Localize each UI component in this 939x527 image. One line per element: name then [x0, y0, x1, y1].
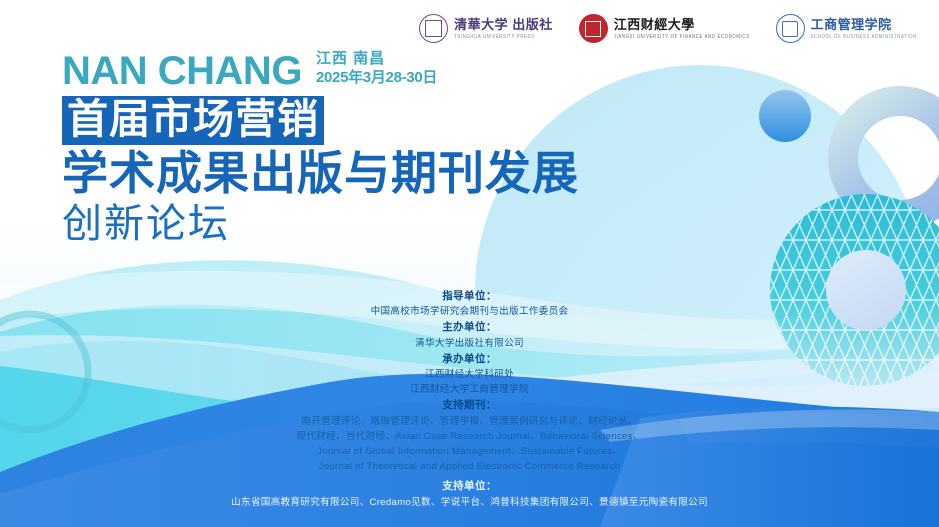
guidance-unit-value: 中国高校市场学研究会期刊与出版工作委员会: [0, 304, 939, 319]
sponsor-logo-strip: 清華大学 出版社 TSINGHUA UNIVERSITY PRESS 江西财經大…: [419, 14, 917, 43]
logo-cn-label: 工商管理学院: [811, 18, 917, 31]
logo-tsinghua-university-press: 清華大学 出版社 TSINGHUA UNIVERSITY PRESS: [419, 14, 553, 43]
city-name-en: NAN CHANG: [62, 52, 302, 90]
poster-headline: NAN CHANG 江西 南昌 2025年3月28-30日 首届市场营销 学术成…: [62, 50, 579, 248]
title-highlight-band: 首届市场营销: [62, 96, 324, 145]
decor-dot: [759, 90, 811, 142]
sba-seal-icon: [776, 14, 805, 43]
supporting-journals-line-1: 南开管理评论、珞珈管理评论、管理学报、管理案例研究与评论、财经论丛、: [0, 414, 939, 429]
logo-school-of-business-administration: 工商管理学院 SCHOOL OF BUSINESS ADMINISTRATION: [776, 14, 917, 43]
organizer-unit-label: 承办单位：: [0, 351, 939, 367]
supporting-journals-label: 支持期刊：: [0, 397, 939, 413]
supporting-journals-line-3: Journal of Global Information Management…: [0, 444, 939, 459]
page-title: 学术成果出版与期刊发展: [62, 148, 579, 200]
guidance-unit-label: 指导单位：: [0, 288, 939, 304]
host-unit-label: 主办单位：: [0, 319, 939, 335]
tsinghua-seal-icon: [419, 14, 448, 43]
event-date: 2025年3月28-30日: [316, 69, 437, 88]
supporting-units-label: 支持单位：: [0, 478, 939, 495]
page-subtitle: 创新论坛: [62, 201, 579, 248]
logo-en-label: JIANGXI UNIVERSITY OF FINANCE AND ECONOM…: [614, 34, 750, 39]
organization-info-block: 指导单位： 中国高校市场学研究会期刊与出版工作委员会 主办单位： 清华大学出版社…: [0, 288, 939, 510]
organizer-unit-value-2: 江西财经大学工商管理学院: [0, 382, 939, 397]
organizer-unit-value-1: 江西财经大学科研处: [0, 367, 939, 382]
city-line: NAN CHANG 江西 南昌 2025年3月28-30日: [62, 50, 579, 90]
conference-poster: 清華大学 出版社 TSINGHUA UNIVERSITY PRESS 江西财經大…: [0, 0, 939, 527]
supporting-units-value: 山东省国高教育研究有限公司、Credamo见数、学说平台、鸿普科技集团有限公司、…: [0, 495, 939, 510]
jufe-seal-icon: [579, 14, 608, 43]
logo-en-label: SCHOOL OF BUSINESS ADMINISTRATION: [811, 34, 917, 39]
city-name-cn: 江西 南昌: [316, 50, 437, 69]
logo-jiangxi-university-of-finance-and-economics: 江西财經大學 JIANGXI UNIVERSITY OF FINANCE AND…: [579, 14, 750, 43]
logo-en-label: TSINGHUA UNIVERSITY PRESS: [454, 34, 553, 39]
logo-cn-label: 江西财經大學: [614, 18, 750, 31]
supporting-journals-line-2: 现代财经、当代财经、Asian Case Research Journal、Be…: [0, 429, 939, 444]
host-unit-value: 清华大学出版社有限公司: [0, 336, 939, 351]
logo-cn-label: 清華大学 出版社: [454, 18, 553, 31]
supporting-journals-line-4: Journal of Theoretical and Applied Elect…: [0, 459, 939, 474]
